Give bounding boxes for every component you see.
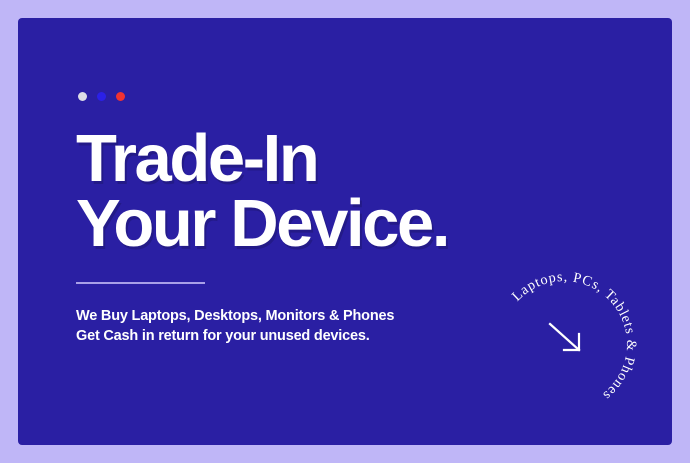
- badge-circular-text: Laptops, PCs, Tablets & Phones: [509, 269, 639, 404]
- dot-red-icon: [116, 92, 125, 101]
- divider-rule: [76, 282, 205, 284]
- circular-text-badge: Laptops, PCs, Tablets & Phones: [496, 276, 632, 412]
- subcopy-line-2: Get Cash in return for your unused devic…: [76, 326, 476, 346]
- subcopy-block: We Buy Laptops, Desktops, Monitors & Pho…: [76, 306, 476, 346]
- subcopy-line-1: We Buy Laptops, Desktops, Monitors & Pho…: [76, 306, 476, 326]
- headline-line-2: Your Device.: [76, 191, 546, 256]
- dot-white-icon: [78, 92, 87, 101]
- dot-blue-icon: [97, 92, 106, 101]
- banner-panel: Trade-In Your Device. We Buy Laptops, De…: [18, 18, 672, 445]
- dot-indicator-group: [78, 92, 125, 101]
- arrow-down-right-icon: [550, 324, 579, 350]
- headline-line-1: Trade-In: [76, 126, 546, 191]
- trade-in-banner: Trade-In Your Device. We Buy Laptops, De…: [0, 0, 690, 463]
- page-title: Trade-In Your Device.: [76, 126, 546, 256]
- badge-circular-textpath: Laptops, PCs, Tablets & Phones: [509, 269, 639, 404]
